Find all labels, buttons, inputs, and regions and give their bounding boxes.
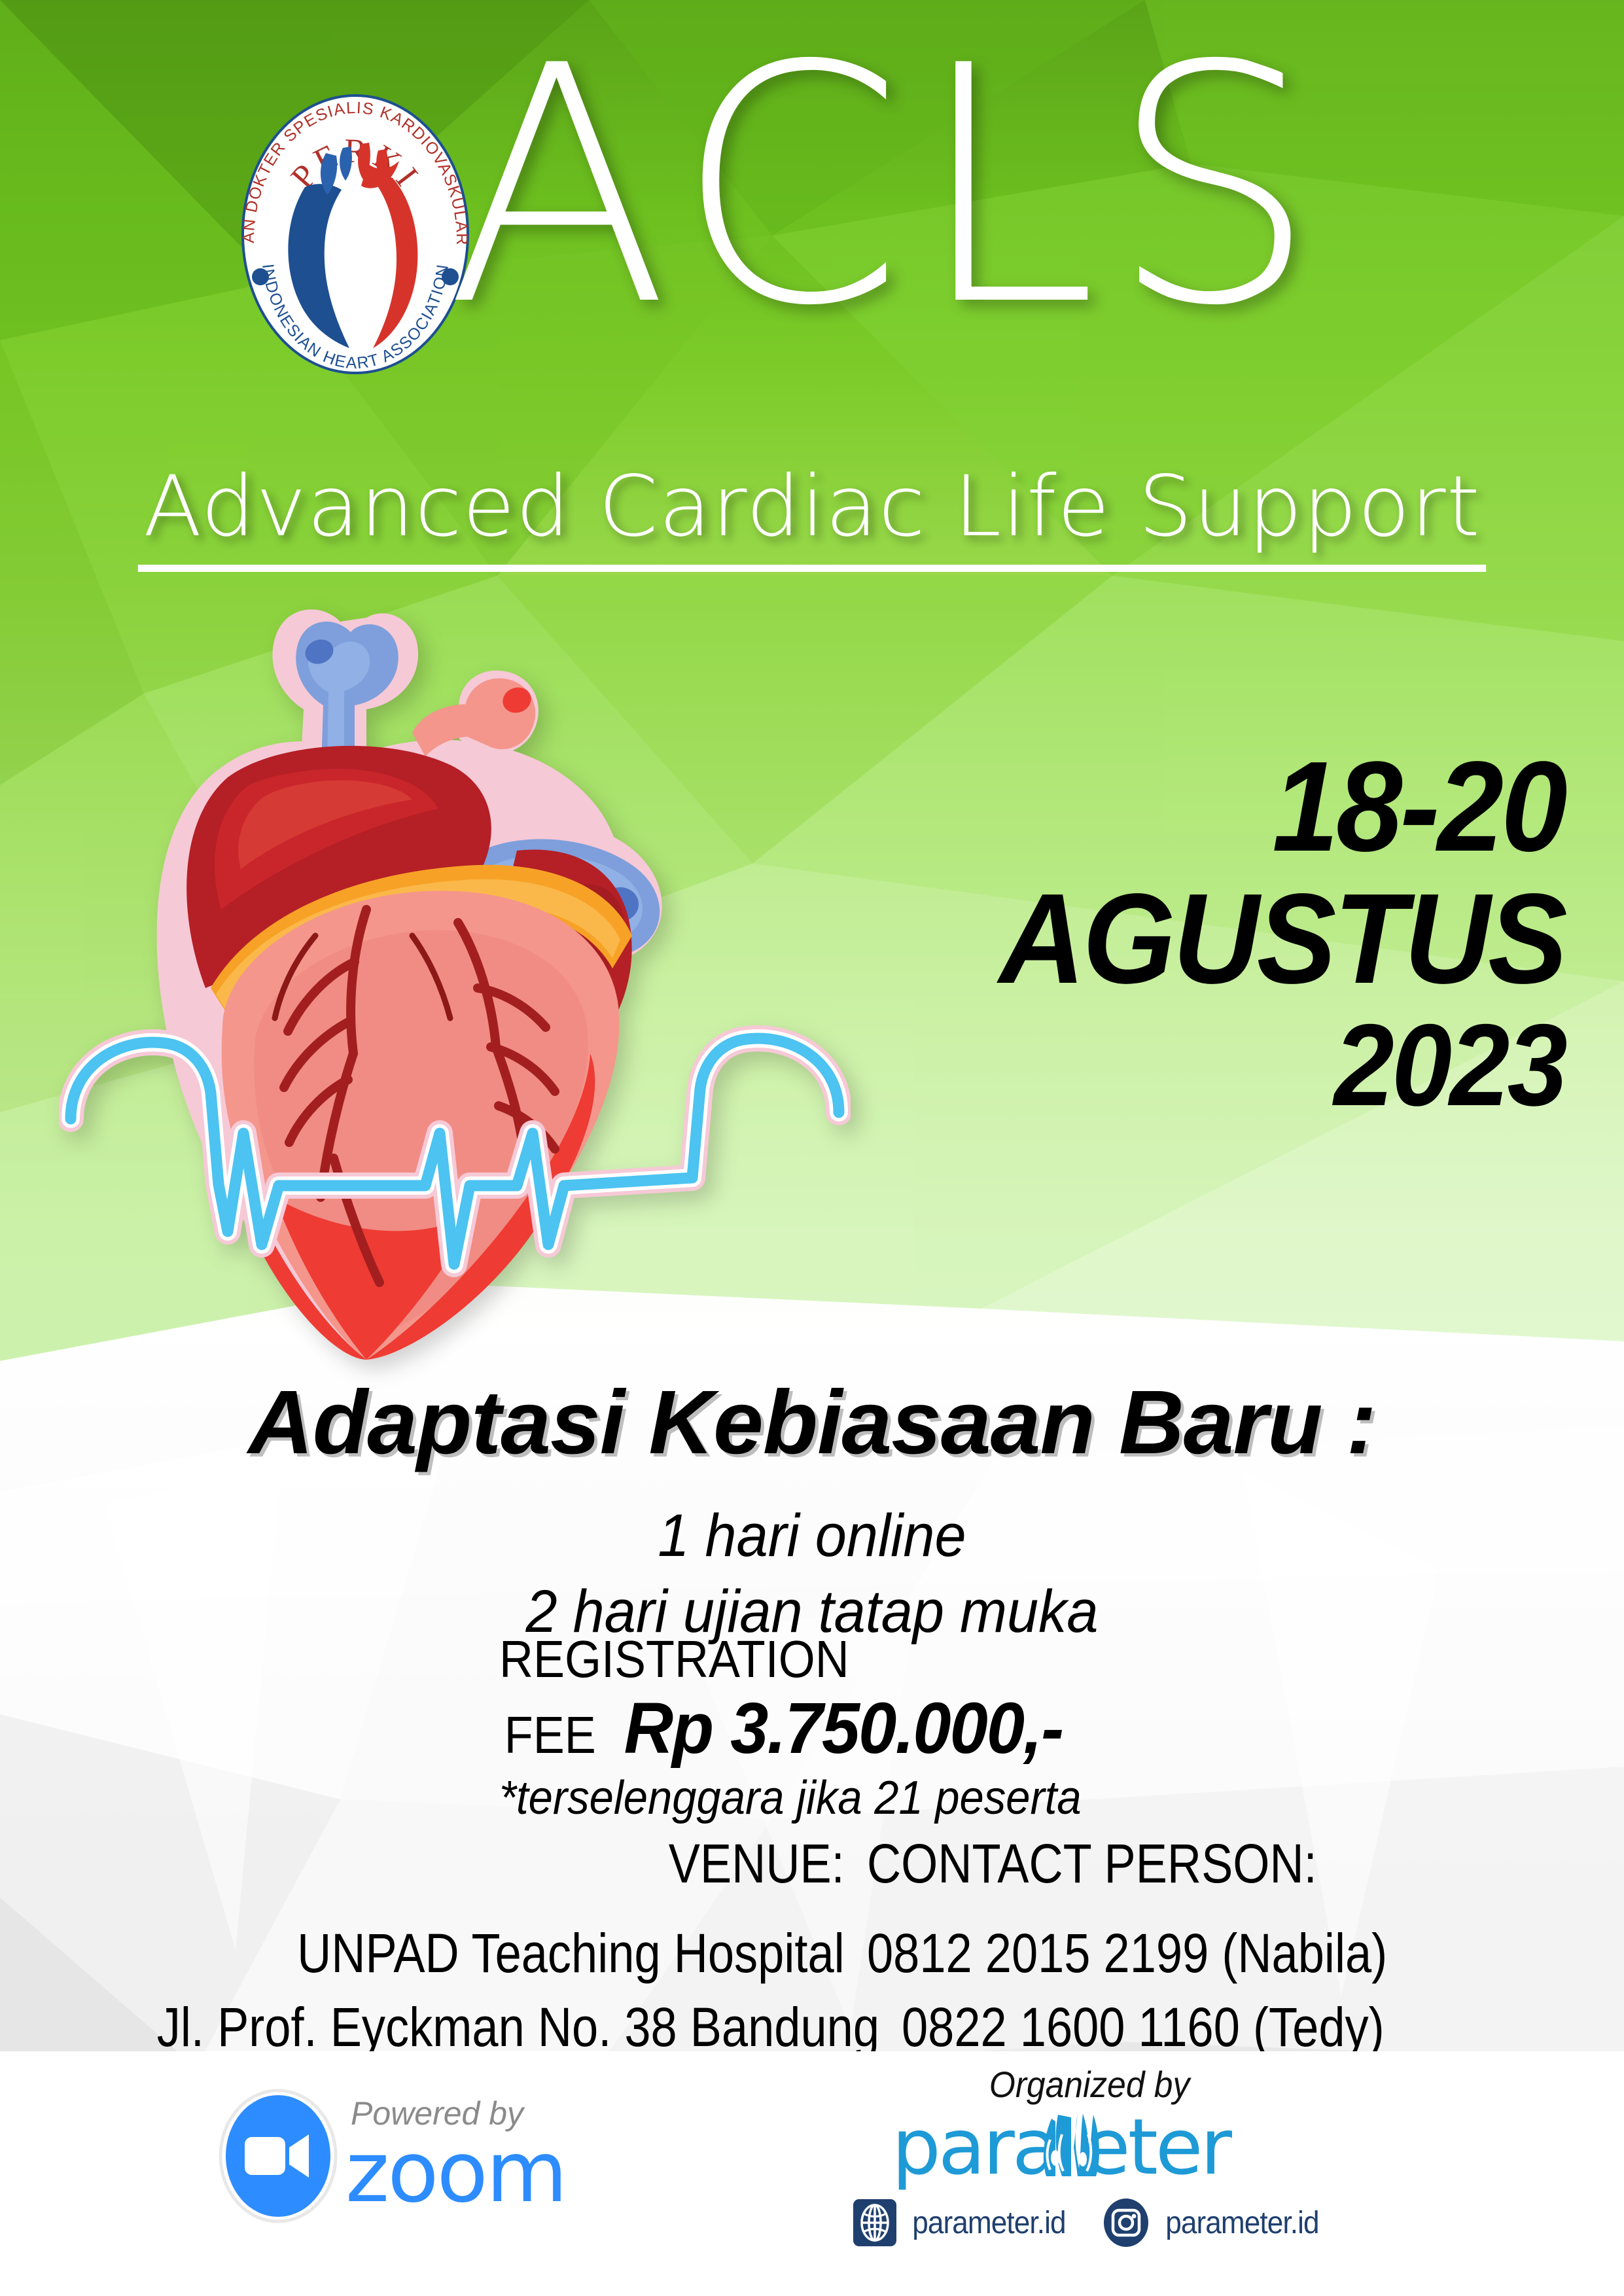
subtitle-wrapper: Advanced Cardiac Life Support: [0, 458, 1624, 572]
row-spacer: [39, 1896, 1590, 1922]
instagram-icon: [1103, 2198, 1150, 2248]
svg-text:para: para: [892, 2108, 1057, 2192]
tagline: Adaptasi Kebiasaan Baru :: [0, 1371, 1624, 1475]
contact-heading: CONTACT PERSON:: [867, 1832, 1317, 1896]
row-spacer-2: [39, 1985, 1590, 1996]
venue-contact-table: VENUE: CONTACT PERSON: UNPAD Teaching Ho…: [39, 1832, 1590, 2059]
contact-line2-cell: 0822 1600 1160 (Tedy): [902, 1996, 1590, 2059]
mode-line-online: 1 hari online: [48, 1498, 1575, 1574]
registration-fee-block: REGISTRATION FEERp 3.750.000,- *terselen…: [0, 1629, 1624, 1825]
info-heading-row: VENUE: CONTACT PERSON:: [39, 1832, 1590, 1896]
venue-heading: VENUE:: [669, 1832, 845, 1896]
registration-label: REGISTRATION: [499, 1629, 1063, 1689]
poster-root: PERHIMPUNAN DOKTER SPESIALIS KARDIOVASKU…: [0, 0, 1624, 2296]
venue-line1-cell: UNPAD Teaching Hospital: [39, 1922, 867, 1985]
venue-line-2: Jl. Prof. Eyckman No. 38 Bandung: [157, 1996, 879, 2059]
course-mode: 1 hari online 2 hari ujian tatap muka: [0, 1498, 1624, 1650]
organized-by-label: Organized by: [860, 2063, 1318, 2106]
fee-amount: Rp 3.750.000,-: [624, 1687, 1063, 1770]
fee-note: *terselenggara jika 21 peserta: [499, 1771, 1082, 1825]
date-year: 2023: [927, 1007, 1566, 1123]
fee-label: FEE: [504, 1705, 595, 1765]
page-subtitle: Advanced Cardiac Life Support: [138, 458, 1486, 572]
contact-line-2: 0822 1600 1160 (Tedy): [902, 1996, 1385, 2059]
website-link[interactable]: parameter.id: [853, 2199, 1072, 2246]
info-row-2: Jl. Prof. Eyckman No. 38 Bandung 0822 16…: [39, 1996, 1590, 2059]
contact-line1-cell: 0812 2015 2199 (Nabila): [867, 1922, 1590, 1985]
venue-line2-cell: Jl. Prof. Eyckman No. 38 Bandung: [39, 1996, 902, 2059]
parameter-wordmark: para eter: [887, 2108, 1292, 2193]
instagram-handle: parameter.id: [1165, 2205, 1318, 2241]
footer: Powered by zoom Organized by para eter: [0, 2051, 1624, 2296]
date-month: AGUSTUS: [927, 875, 1566, 1003]
zoom-wordmark: zoom: [345, 2131, 566, 2215]
instagram-link[interactable]: parameter.id: [1103, 2198, 1326, 2248]
event-date: 18-20 AGUSTUS 2023: [878, 743, 1565, 1123]
zoom-text-block: Powered by zoom: [345, 2097, 566, 2215]
zoom-camera-icon: [216, 2087, 340, 2225]
website-handle: parameter.id: [912, 2205, 1065, 2241]
info-row-1: UNPAD Teaching Hospital 0812 2015 2199 (…: [39, 1922, 1590, 1985]
organizer-group: Organized by para eter: [841, 2063, 1338, 2248]
svg-text:eter: eter: [1083, 2108, 1232, 2192]
globe-icon: [853, 2199, 896, 2246]
date-day-range: 18-20: [927, 743, 1566, 871]
venue-heading-cell: VENUE:: [39, 1832, 867, 1896]
zoom-sponsor-group: Powered by zoom: [216, 2087, 566, 2225]
social-links-row: parameter.id parameter.id: [841, 2198, 1338, 2248]
contact-line-1: 0812 2015 2199 (Nabila): [867, 1922, 1387, 1985]
anatomical-heart-icon: [59, 569, 851, 1374]
fee-inner: REGISTRATION FEERp 3.750.000,- *terselen…: [499, 1629, 1125, 1825]
page-title: ACLS: [0, 26, 1624, 347]
contact-heading-cell: CONTACT PERSON:: [867, 1832, 1590, 1896]
venue-line-1: UNPAD Teaching Hospital: [297, 1922, 845, 1985]
fee-row: FEERp 3.750.000,-: [499, 1687, 1125, 1770]
